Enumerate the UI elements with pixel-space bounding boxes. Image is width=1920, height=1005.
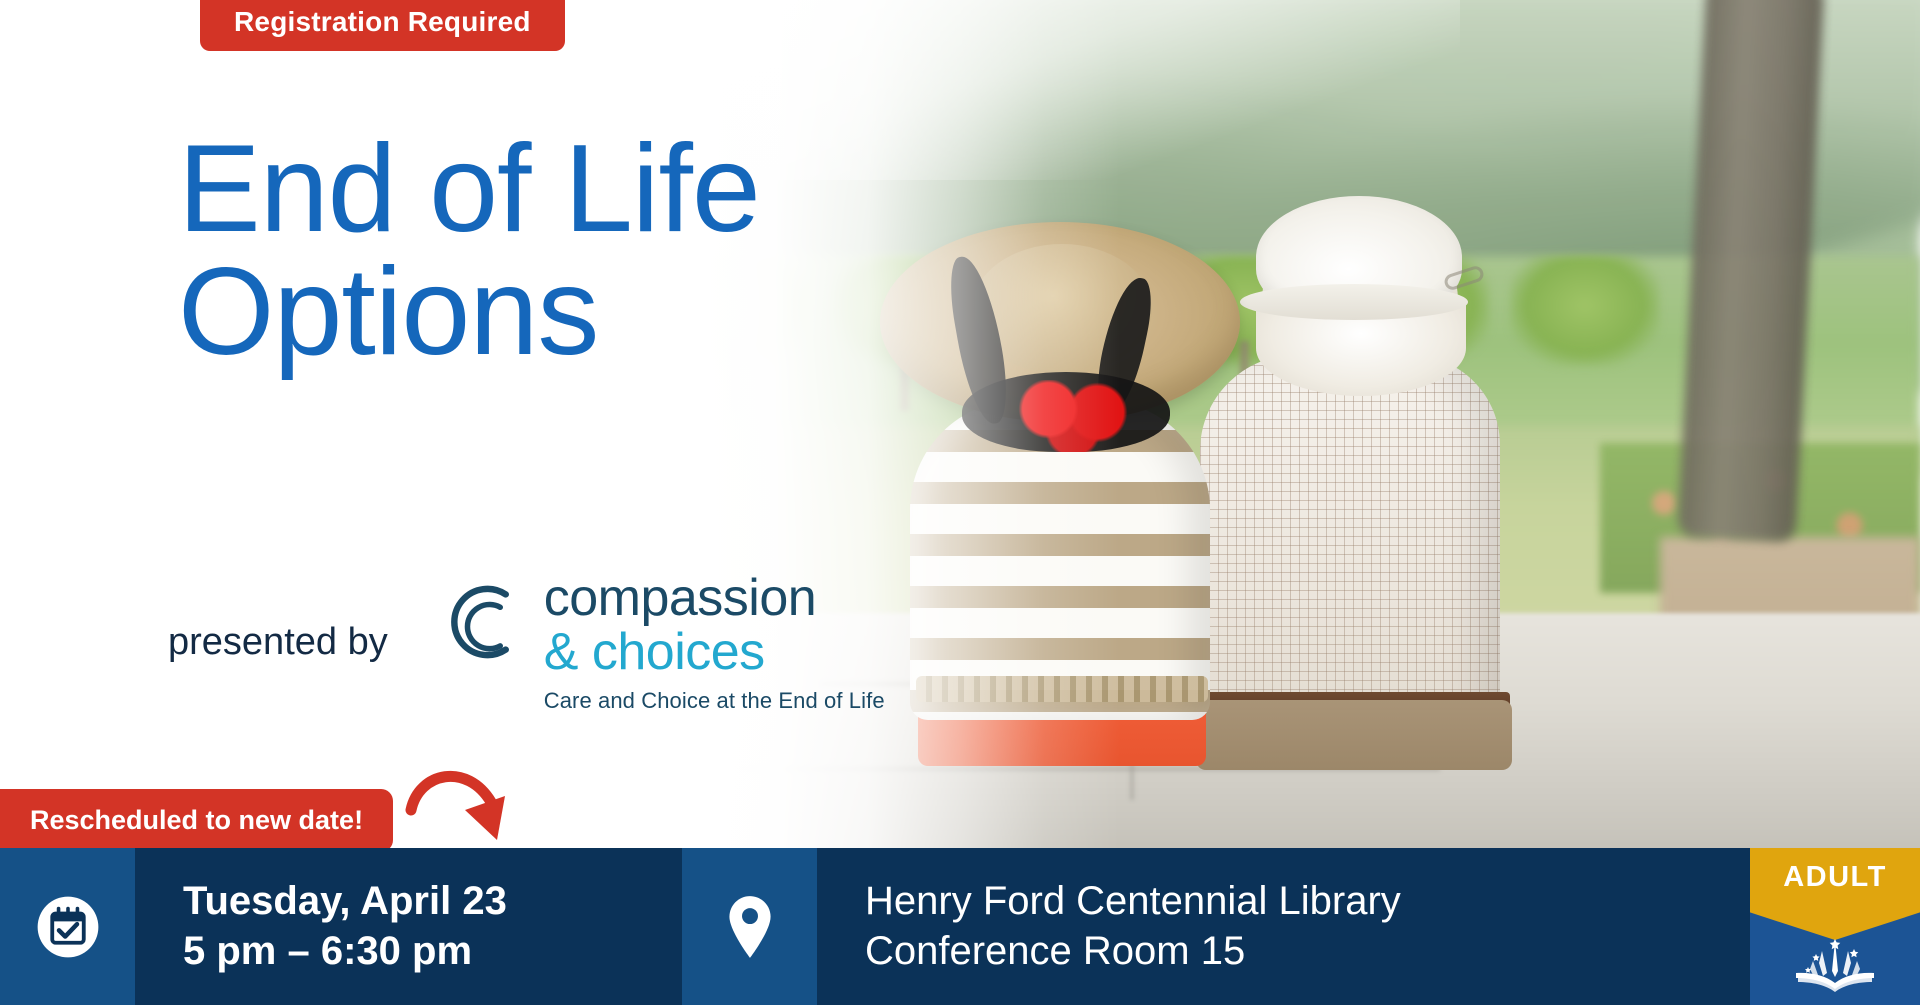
audience-banner: ADULT (1750, 848, 1920, 940)
presenter-row: presented by compassion & choices Care a… (168, 572, 885, 712)
sponsor-name-line-1: compassion (544, 572, 885, 624)
event-location-room: Conference Room 15 (865, 927, 1750, 977)
presented-by-label: presented by (168, 621, 388, 664)
photo-man-pants (1196, 700, 1512, 770)
sponsor-tagline: Care and Choice at the End of Life (544, 690, 885, 712)
sponsor-name-line-2: & choices (544, 626, 885, 678)
sponsor-logo: compassion & choices Care and Choice at … (434, 572, 885, 712)
title-line-1: End of Life (178, 128, 938, 251)
event-location-venue: Henry Ford Centennial Library (865, 877, 1750, 927)
map-pin-icon (682, 848, 817, 1005)
compassion-c-mark-icon (434, 576, 526, 668)
event-location-block: Henry Ford Centennial Library Conference… (817, 848, 1750, 1005)
calendar-check-icon (0, 848, 135, 1005)
event-time: 5 pm – 6:30 pm (183, 927, 682, 977)
audience-badge: ADULT (1750, 848, 1920, 1005)
photo-man-hat-brim (1240, 284, 1468, 320)
open-book-stars-logo-icon (1780, 937, 1890, 997)
photo-vine (1510, 256, 1660, 366)
curved-down-arrow-icon (405, 758, 513, 861)
registration-required-badge: Registration Required (200, 0, 565, 51)
audience-label: ADULT (1783, 861, 1887, 894)
event-date: Tuesday, April 23 (183, 877, 682, 927)
event-poster: Registration Required End of Life Option… (0, 0, 1920, 1005)
page-title: End of Life Options (178, 128, 938, 374)
photo-man-torso (1200, 355, 1500, 735)
title-line-2: Options (178, 251, 938, 374)
event-date-block: Tuesday, April 23 5 pm – 6:30 pm (135, 848, 682, 1005)
sponsor-wordmark: compassion & choices Care and Choice at … (544, 572, 885, 712)
event-details-bar: Tuesday, April 23 5 pm – 6:30 pm Henry F… (0, 848, 1920, 1005)
rescheduled-badge: Rescheduled to new date! (0, 789, 393, 852)
